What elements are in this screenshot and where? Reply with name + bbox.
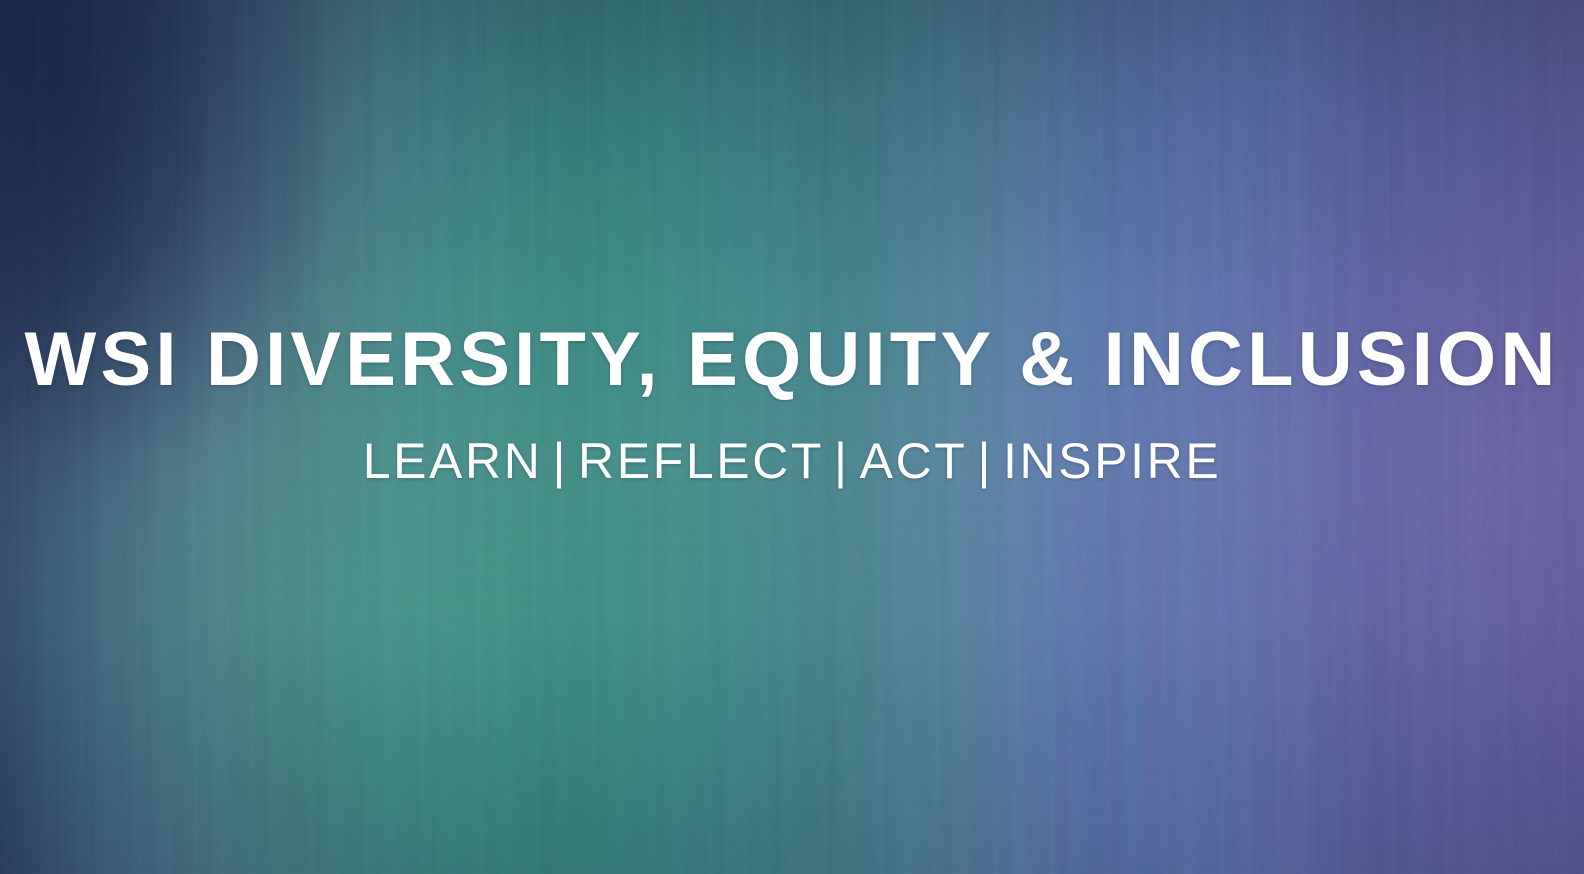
subtitle-word-reflect: REFLECT (578, 433, 824, 489)
dei-banner: WSI DIVERSITY, EQUITY & INCLUSION LEARN|… (0, 0, 1584, 874)
subtitle-separator-1: | (542, 433, 578, 489)
subtitle-separator-2: | (824, 433, 860, 489)
subtitle-word-inspire: INSPIRE (1003, 433, 1221, 489)
banner-headline: WSI DIVERSITY, EQUITY & INCLUSION (0, 322, 1584, 398)
subtitle-word-learn: LEARN (363, 433, 543, 489)
banner-subtitle: LEARN|REFLECT|ACT|INSPIRE (0, 436, 1584, 486)
banner-content: WSI DIVERSITY, EQUITY & INCLUSION LEARN|… (0, 0, 1584, 874)
subtitle-separator-3: | (967, 433, 1003, 489)
subtitle-word-act: ACT (860, 433, 968, 489)
